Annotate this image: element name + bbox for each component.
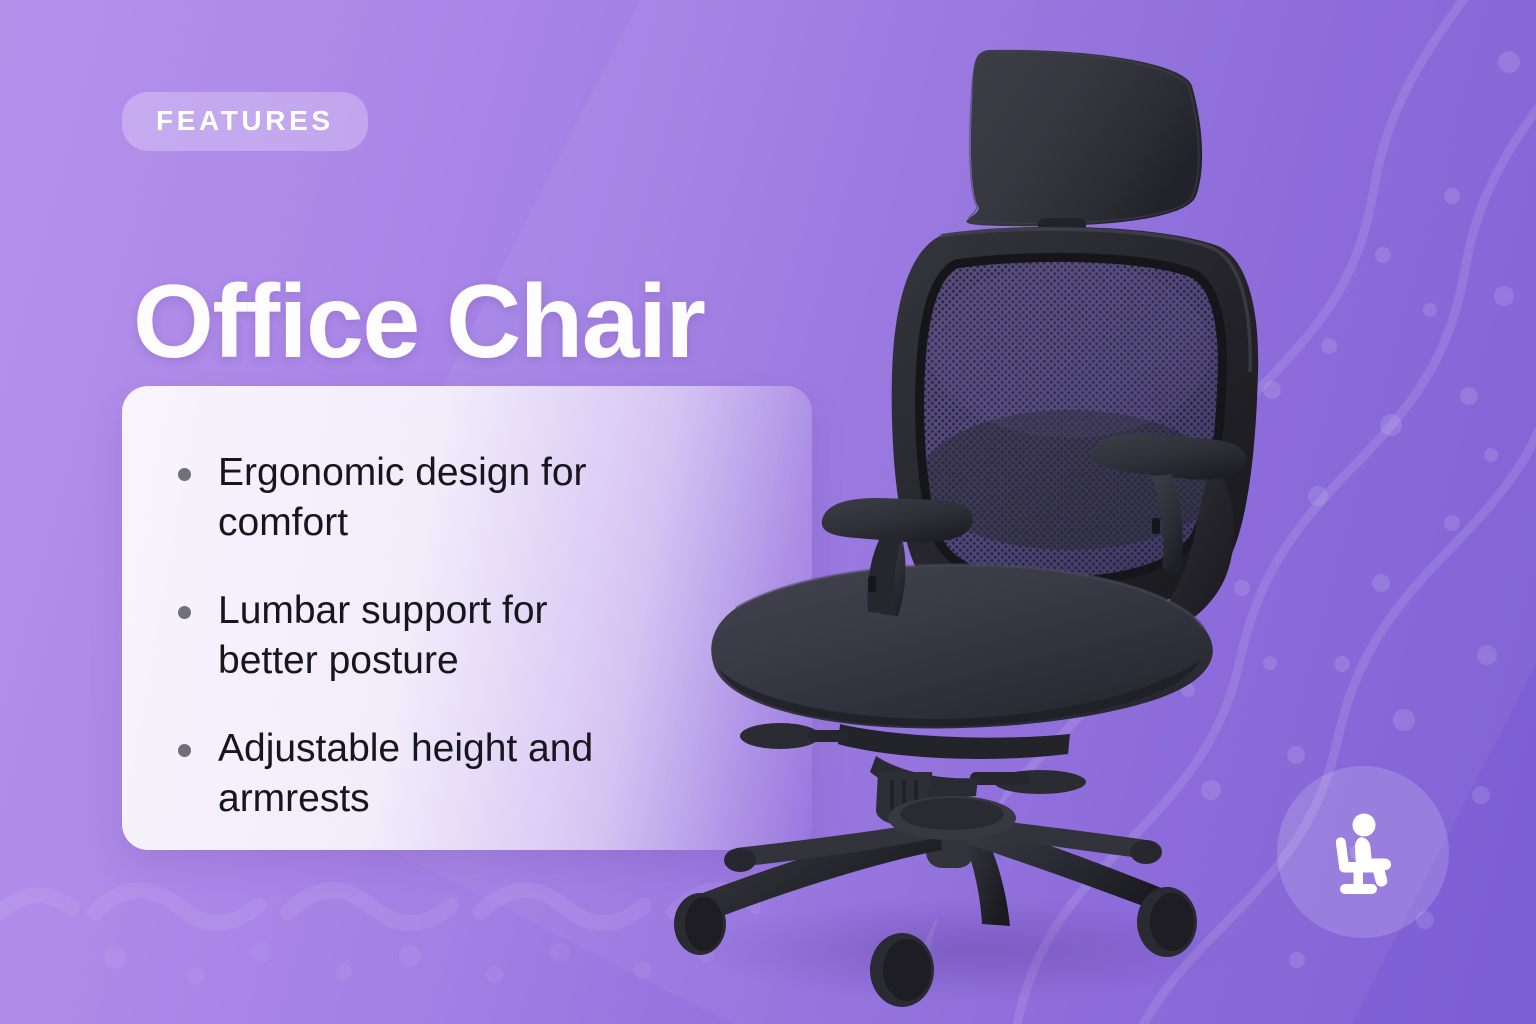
list-item: Ergonomic design for comfort bbox=[174, 448, 638, 548]
bullet-icon bbox=[178, 606, 191, 619]
feature-text: Adjustable height and armrests bbox=[218, 727, 593, 820]
feature-text: Lumbar support for better posture bbox=[218, 589, 548, 682]
features-badge: FEATURES bbox=[122, 92, 368, 151]
dot-pattern-bottom-left bbox=[104, 942, 714, 985]
page-title: Office Chair bbox=[133, 266, 704, 378]
chair-icon-badge bbox=[1277, 766, 1449, 938]
person-sitting-on-chair-icon bbox=[1315, 804, 1411, 900]
chair-seat bbox=[711, 565, 1213, 729]
list-item: Lumbar support for better posture bbox=[174, 586, 638, 686]
bullet-icon bbox=[178, 468, 191, 481]
bullet-icon bbox=[178, 744, 191, 757]
office-chair-illustration bbox=[640, 20, 1320, 1010]
promo-banner: FEATURES Office Chair Ergonomic design f… bbox=[0, 0, 1536, 1024]
feature-text: Ergonomic design for comfort bbox=[218, 451, 587, 544]
list-item: Adjustable height and armrests bbox=[174, 724, 638, 824]
chair-headrest bbox=[966, 50, 1202, 240]
